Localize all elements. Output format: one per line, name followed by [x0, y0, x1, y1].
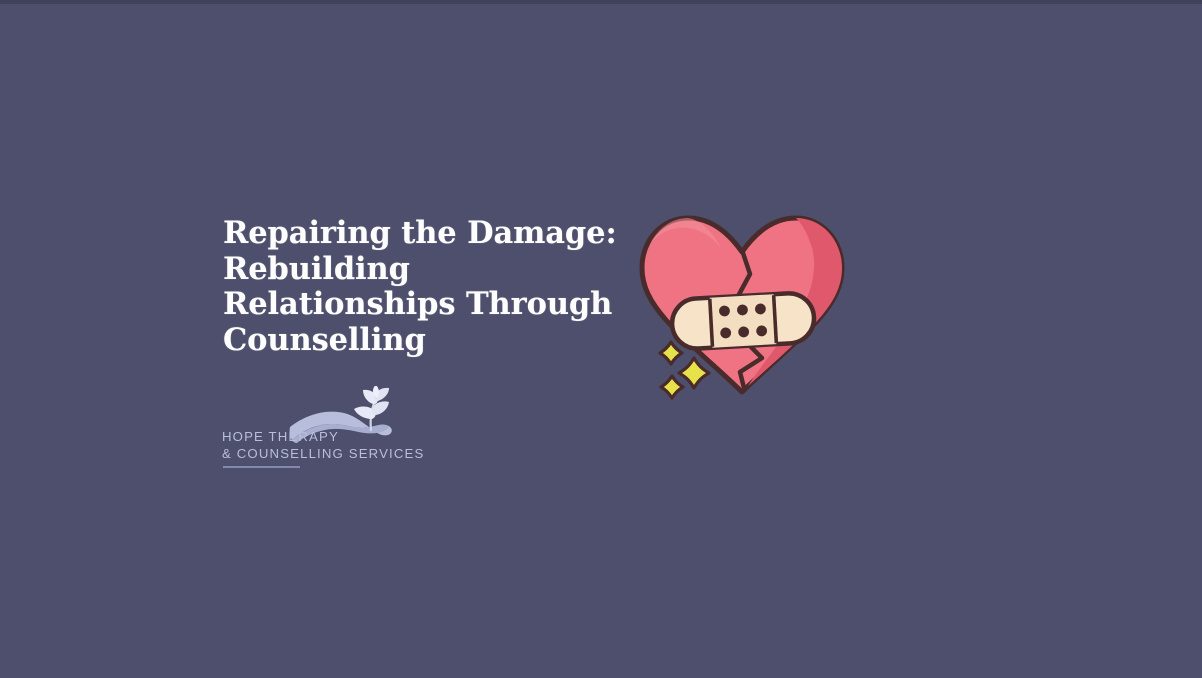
sparkle-small-bottom [661, 376, 683, 398]
sparkle-small-top [660, 342, 682, 364]
broken-heart-with-bandage-illustration [628, 196, 860, 408]
bandage-plaster [671, 292, 816, 350]
logo-wordmark: HOPE THERAPY & COUNSELLING SERVICES [222, 428, 394, 462]
sparkle-large [679, 358, 709, 388]
logo-underline-rule [223, 466, 300, 468]
logo-line-1: HOPE THERAPY [222, 428, 394, 445]
presentation-slide: Repairing the Damage: Rebuilding Relatio… [0, 0, 1202, 678]
brand-logo: HOPE THERAPY & COUNSELLING SERVICES [222, 386, 402, 476]
page-title: Repairing the Damage: Rebuilding Relatio… [223, 216, 643, 358]
top-edge-band [0, 0, 1202, 4]
logo-line-2: & COUNSELLING SERVICES [222, 445, 394, 462]
